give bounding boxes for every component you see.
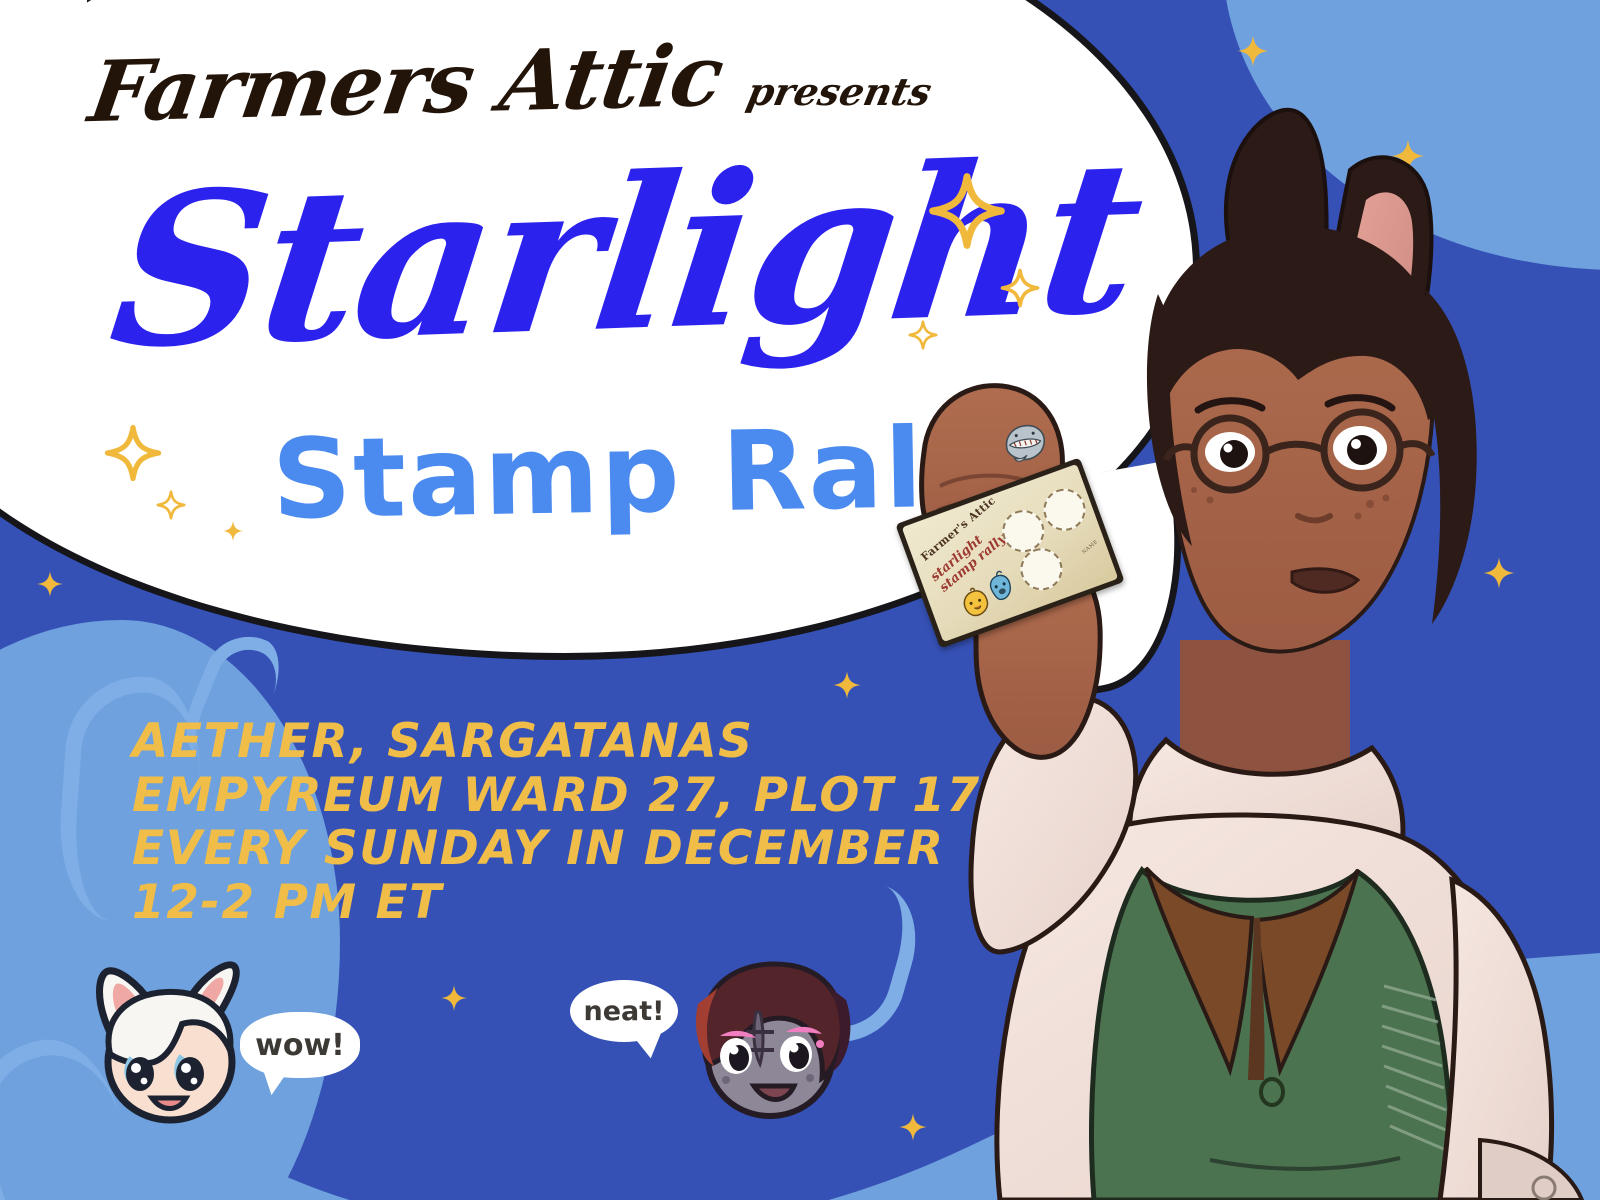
- event-detail-line: Every Sunday in December: [132, 822, 981, 876]
- sparkle-star-icon: [222, 520, 244, 542]
- sparkle-star-icon: [36, 570, 64, 598]
- grey-auri-chibi: [660, 940, 875, 1140]
- event-detail-line: 12-2 PM ET: [132, 876, 981, 930]
- brand-name: Farmers Attic: [84, 34, 727, 134]
- event-detail-line: Empyreum Ward 27, Plot 17: [132, 769, 981, 823]
- stamp-card-face: Farmer's Attic starlight stamp rally! NA…: [902, 464, 1119, 642]
- event-details-block: Aether, Sargatanas Empyreum Ward 27, Plo…: [132, 715, 981, 929]
- shark-sticker: [998, 418, 1051, 466]
- sparkle-star-icon: [1236, 34, 1270, 68]
- stamp-card-name-label: NAME: [1081, 539, 1099, 556]
- event-detail-line: Aether, Sargatanas: [132, 715, 981, 769]
- brand-presents-line: Farmers Attic presents: [92, 42, 931, 126]
- sparkle-star-icon: [156, 490, 186, 520]
- chibi-speech-bubble-neat: neat!: [570, 980, 678, 1042]
- chibi-speech-bubble-wow: wow!: [240, 1012, 360, 1078]
- sparkle-star-icon: [104, 424, 162, 482]
- sparkle-star-icon: [440, 984, 468, 1012]
- stamp-slot: [1038, 483, 1092, 537]
- poster-canvas: Farmers Attic presents Starlight Stamp R…: [0, 0, 1600, 1200]
- sparkle-star-icon: [832, 670, 862, 700]
- bubble-corner-fill: [0, 0, 87, 87]
